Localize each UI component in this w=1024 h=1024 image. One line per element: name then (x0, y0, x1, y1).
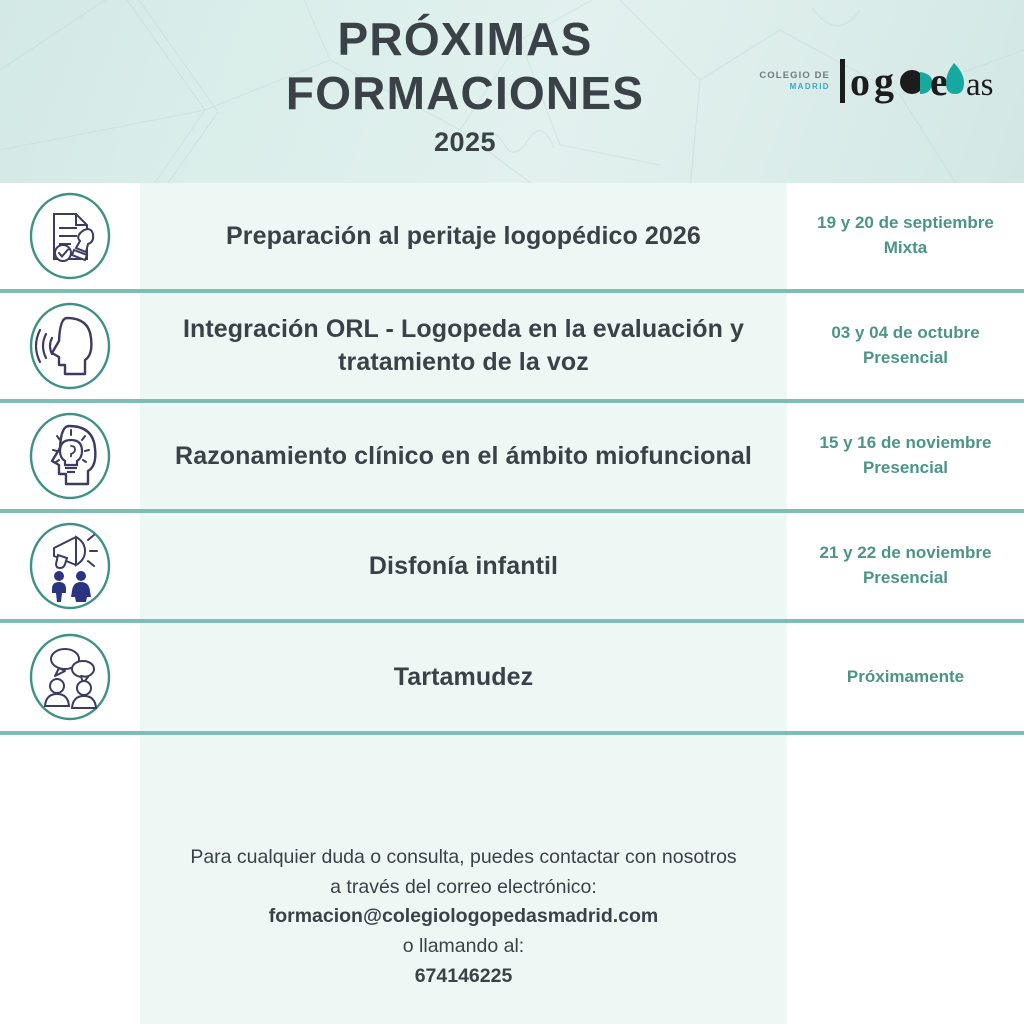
row-icon-cell (0, 513, 140, 619)
trainings-table: Preparación al peritaje logopédico 2026 … (0, 183, 1024, 735)
people-speech-bubbles-icon (27, 631, 113, 723)
svg-text:as: as (966, 67, 994, 103)
row-title-cell: Tartamudez (140, 623, 787, 731)
training-date: Próximamente (847, 665, 964, 690)
row-title-cell: Razonamiento clínico en el ámbito miofun… (140, 403, 787, 509)
training-modality: Presencial (863, 346, 948, 371)
training-modality: Mixta (884, 236, 927, 261)
contact-email[interactable]: formacion@colegiologopedasmadrid.com (269, 902, 659, 932)
row-icon-cell (0, 403, 140, 509)
training-date: 03 y 04 de octubre (831, 321, 979, 346)
training-title: Integración ORL - Logopeda en la evaluac… (166, 313, 761, 379)
contact-line-3: o llamando al: (403, 932, 524, 962)
row-date-cell: 19 y 20 de septiembre Mixta (787, 183, 1024, 289)
page-title-year: 2025 (0, 127, 930, 158)
table-row[interactable]: Integración ORL - Logopeda en la evaluac… (0, 293, 1024, 403)
training-modality: Presencial (863, 566, 948, 591)
row-date-cell: 21 y 22 de noviembre Presencial (787, 513, 1024, 619)
logo-colegio-text: COLEGIO DE MADRID (759, 71, 830, 93)
training-date: 21 y 22 de noviembre (820, 541, 992, 566)
training-title: Razonamiento clínico en el ámbito miofun… (175, 440, 752, 473)
training-title: Disfonía infantil (369, 550, 558, 583)
table-row[interactable]: Disfonía infantil 21 y 22 de noviembre P… (0, 513, 1024, 623)
row-icon-cell (0, 293, 140, 399)
logo-colegio-line: COLEGIO DE (759, 71, 830, 82)
row-icon-cell (0, 183, 140, 289)
training-date: 19 y 20 de septiembre (817, 211, 994, 236)
megaphone-children-icon (27, 520, 113, 612)
head-lightbulb-icon (27, 410, 113, 502)
contact-line-1: Para cualquier duda o consulta, puedes c… (190, 843, 736, 873)
svg-text:e: e (930, 59, 948, 104)
table-row[interactable]: Preparación al peritaje logopédico 2026 … (0, 183, 1024, 293)
head-soundwaves-icon (27, 300, 113, 392)
contact-phone[interactable]: 674146225 (415, 962, 513, 992)
table-row[interactable]: Tartamudez Próximamente (0, 623, 1024, 735)
row-date-cell: 03 y 04 de octubre Presencial (787, 293, 1024, 399)
row-date-cell: 15 y 16 de noviembre Presencial (787, 403, 1024, 509)
training-date: 15 y 16 de noviembre (820, 431, 992, 456)
row-title-cell: Disfonía infantil (140, 513, 787, 619)
document-stamp-icon (27, 190, 113, 282)
training-title: Tartamudez (394, 661, 533, 694)
logo-wordmark-icon: o g e as (838, 57, 1006, 107)
poster-header: PRÓXIMAS FORMACIONES 2025 COLEGIO DE MAD… (0, 0, 1024, 183)
table-row[interactable]: Razonamiento clínico en el ámbito miofun… (0, 403, 1024, 513)
svg-text:o: o (850, 59, 870, 104)
row-title-cell: Integración ORL - Logopeda en la evaluac… (140, 293, 787, 399)
row-icon-cell (0, 623, 140, 731)
row-date-cell: Próximamente (787, 623, 1024, 731)
contact-line-2: a través del correo electrónico: (330, 873, 597, 903)
logo-madrid-line: MADRID (790, 82, 830, 91)
footer-contact-text: Para cualquier duda o consulta, puedes c… (140, 735, 787, 1024)
training-title: Preparación al peritaje logopédico 2026 (226, 220, 701, 253)
row-title-cell: Preparación al peritaje logopédico 2026 (140, 183, 787, 289)
organization-logo: COLEGIO DE MADRID o g e as (759, 56, 1006, 108)
svg-text:g: g (874, 59, 894, 104)
training-modality: Presencial (863, 456, 948, 481)
contact-footer: Para cualquier duda o consulta, puedes c… (0, 735, 1024, 1024)
poster-root: PRÓXIMAS FORMACIONES 2025 COLEGIO DE MAD… (0, 0, 1024, 1024)
